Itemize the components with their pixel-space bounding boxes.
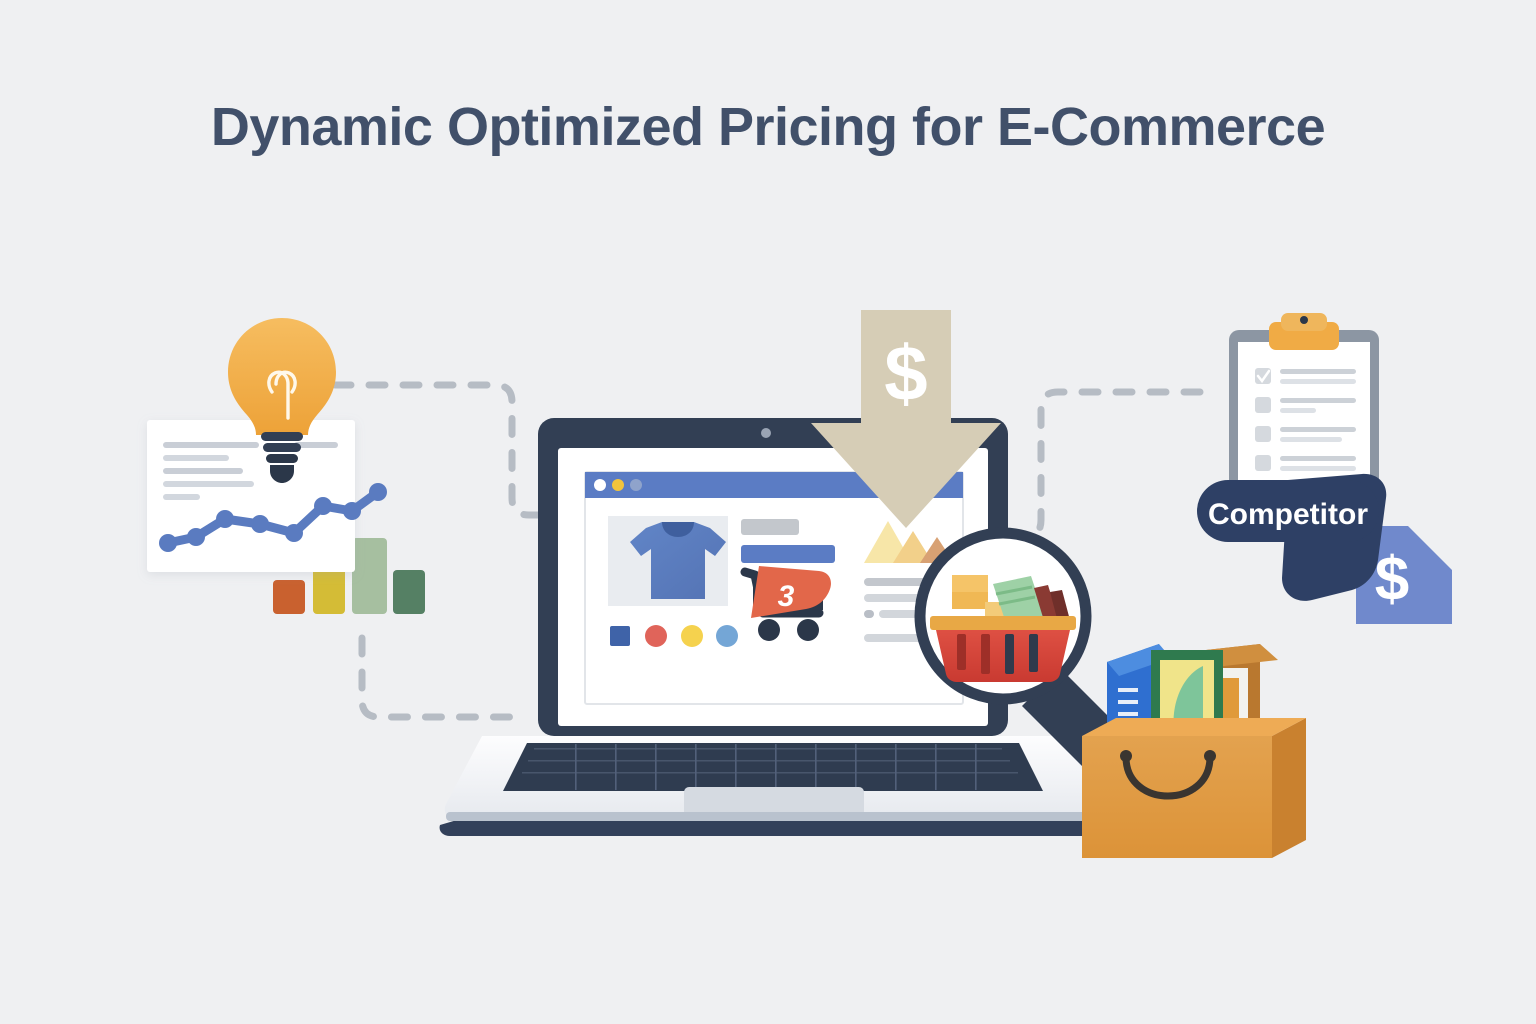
swatch-red[interactable] — [645, 625, 667, 647]
traffic-light-2[interactable] — [612, 479, 624, 491]
competitor-tag-label: Competitor — [1208, 498, 1368, 531]
tshirt-product-image[interactable] — [608, 516, 728, 606]
competitor-tag: Competitor — [1197, 474, 1386, 601]
swatch-blue[interactable] — [610, 626, 630, 646]
buy-now-button[interactable] — [741, 545, 835, 563]
traffic-light-3[interactable] — [630, 479, 642, 491]
dollar-symbol: $ — [884, 329, 927, 417]
traffic-light-1[interactable] — [594, 479, 606, 491]
swatch-lightblue[interactable] — [716, 625, 738, 647]
laptop-keyboard[interactable] — [503, 743, 1043, 791]
swatch-yellow[interactable] — [681, 625, 703, 647]
shopping-bag — [1082, 644, 1306, 858]
connector-bars-to-laptop — [362, 638, 520, 717]
analytics-report-card — [147, 318, 425, 614]
cart-badge-count: 3 — [778, 580, 795, 613]
price-tag-symbol: $ — [1375, 545, 1409, 614]
connector-clipboard-to-magnifier — [1010, 392, 1200, 537]
illustration-canvas: Dynamic Optimized Pricing for E-Commerce — [0, 0, 1536, 1024]
webcam-dot — [761, 428, 771, 438]
infographic-illustration: 3 — [0, 0, 1536, 1024]
